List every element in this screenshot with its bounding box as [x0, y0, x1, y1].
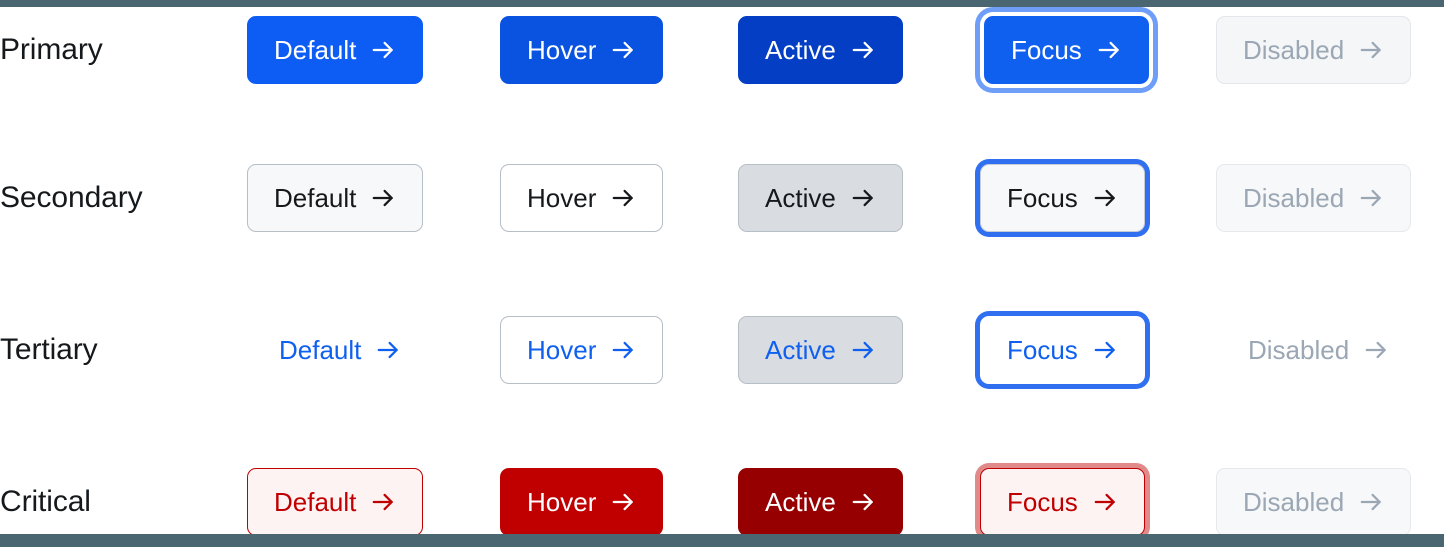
button-tertiary-focus[interactable]: Focus: [980, 316, 1145, 384]
cell-critical-focus: Focus: [980, 468, 1145, 536]
cell-critical-active: Active: [738, 468, 903, 536]
button-label: Active: [765, 489, 836, 515]
cell-primary-default: Default: [247, 16, 423, 84]
button-label: Focus: [1007, 337, 1078, 363]
cell-primary-disabled: Disabled: [1216, 16, 1411, 84]
button-primary-default[interactable]: Default: [247, 16, 423, 84]
arrow-right-icon: [370, 37, 396, 63]
cell-tertiary-default: Default: [252, 316, 428, 384]
row-tertiary: Tertiary Default Hover: [0, 274, 1444, 426]
cell-secondary-default: Default: [247, 164, 423, 232]
button-label: Disabled: [1243, 185, 1344, 211]
button-label: Active: [765, 337, 836, 363]
cell-tertiary-focus: Focus: [980, 316, 1145, 384]
row-label-critical: Critical: [0, 485, 91, 519]
button-label: Default: [274, 37, 356, 63]
arrow-right-icon: [370, 489, 396, 515]
button-critical-disabled: Disabled: [1216, 468, 1411, 536]
button-label: Active: [765, 37, 836, 63]
button-label: Hover: [527, 37, 596, 63]
row-label-secondary: Secondary: [0, 181, 143, 215]
arrow-right-icon: [1358, 185, 1384, 211]
button-critical-hover[interactable]: Hover: [500, 468, 663, 536]
arrow-right-icon: [1358, 489, 1384, 515]
button-label: Disabled: [1243, 489, 1344, 515]
arrow-right-icon: [375, 337, 401, 363]
cell-secondary-hover: Hover: [500, 164, 663, 232]
arrow-right-icon: [850, 337, 876, 363]
arrow-right-icon: [1092, 337, 1118, 363]
button-tertiary-hover[interactable]: Hover: [500, 316, 663, 384]
cell-secondary-disabled: Disabled: [1216, 164, 1411, 232]
button-label: Default: [274, 185, 356, 211]
button-label: Disabled: [1248, 337, 1349, 363]
button-secondary-hover[interactable]: Hover: [500, 164, 663, 232]
cell-primary-focus: Focus: [984, 16, 1149, 84]
arrow-right-icon: [850, 185, 876, 211]
button-primary-active[interactable]: Active: [738, 16, 903, 84]
row-secondary: Secondary Default Hover: [0, 122, 1444, 274]
cell-critical-hover: Hover: [500, 468, 663, 536]
button-label: Hover: [527, 185, 596, 211]
arrow-right-icon: [850, 37, 876, 63]
button-tertiary-disabled: Disabled: [1221, 316, 1416, 384]
arrow-right-icon: [370, 185, 396, 211]
cell-critical-default: Default: [247, 468, 423, 536]
row-primary: Primary Default Hover: [0, 0, 1444, 126]
arrow-right-icon: [1363, 337, 1389, 363]
button-primary-focus[interactable]: Focus: [984, 16, 1149, 84]
button-tertiary-active[interactable]: Active: [738, 316, 903, 384]
cell-primary-active: Active: [738, 16, 903, 84]
button-label: Disabled: [1243, 37, 1344, 63]
button-label: Focus: [1011, 37, 1082, 63]
arrow-right-icon: [1096, 37, 1122, 63]
button-label: Default: [279, 337, 361, 363]
cell-tertiary-active: Active: [738, 316, 903, 384]
button-states-matrix-page: Primary Default Hover: [0, 0, 1444, 547]
button-label: Hover: [527, 489, 596, 515]
button-label: Focus: [1007, 489, 1078, 515]
button-primary-disabled: Disabled: [1216, 16, 1411, 84]
arrow-right-icon: [610, 489, 636, 515]
button-secondary-disabled: Disabled: [1216, 164, 1411, 232]
cell-tertiary-disabled: Disabled: [1221, 316, 1416, 384]
row-label-primary: Primary: [0, 33, 103, 67]
button-critical-focus[interactable]: Focus: [980, 468, 1145, 536]
button-secondary-default[interactable]: Default: [247, 164, 423, 232]
cell-secondary-focus: Focus: [980, 164, 1145, 232]
button-secondary-active[interactable]: Active: [738, 164, 903, 232]
button-secondary-focus[interactable]: Focus: [980, 164, 1145, 232]
button-label: Hover: [527, 337, 596, 363]
button-label: Focus: [1007, 185, 1078, 211]
button-primary-hover[interactable]: Hover: [500, 16, 663, 84]
button-label: Active: [765, 185, 836, 211]
top-chrome-bar: [0, 0, 1444, 7]
arrow-right-icon: [610, 337, 636, 363]
button-critical-active[interactable]: Active: [738, 468, 903, 536]
button-matrix: Primary Default Hover: [0, 0, 1444, 547]
cell-tertiary-hover: Hover: [500, 316, 663, 384]
row-label-tertiary: Tertiary: [0, 333, 98, 367]
bottom-chrome-bar: [0, 534, 1444, 547]
arrow-right-icon: [1358, 37, 1384, 63]
arrow-right-icon: [850, 489, 876, 515]
cell-critical-disabled: Disabled: [1216, 468, 1411, 536]
button-tertiary-default[interactable]: Default: [252, 316, 428, 384]
arrow-right-icon: [1092, 489, 1118, 515]
button-critical-default[interactable]: Default: [247, 468, 423, 536]
arrow-right-icon: [610, 185, 636, 211]
cell-secondary-active: Active: [738, 164, 903, 232]
button-label: Default: [274, 489, 356, 515]
cell-primary-hover: Hover: [500, 16, 663, 84]
arrow-right-icon: [1092, 185, 1118, 211]
row-critical: Critical Default Hover: [0, 426, 1444, 547]
arrow-right-icon: [610, 37, 636, 63]
